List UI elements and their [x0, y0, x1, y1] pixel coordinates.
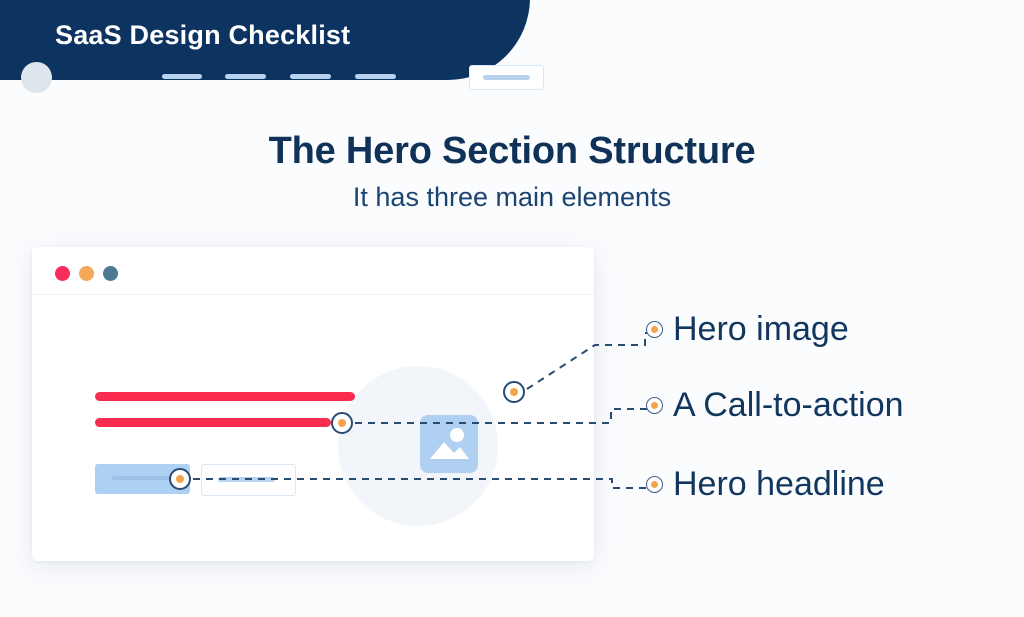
mock-nav-button	[469, 65, 544, 90]
header-banner: SaaS Design Checklist	[0, 0, 530, 80]
mock-nav-link-4	[355, 74, 396, 79]
mock-nav-link-2	[225, 74, 266, 79]
callout-bullet-icon	[646, 397, 663, 414]
callout-anchor-call-to-action[interactable]	[331, 412, 353, 434]
page-subtitle: It has three main elements	[0, 182, 1024, 213]
callout-hero-image[interactable]: Hero image	[646, 312, 849, 346]
mock-headline-bar-2	[95, 418, 331, 427]
callout-anchor-hero-image[interactable]	[503, 381, 525, 403]
browser-titlebar	[32, 247, 594, 295]
callout-bullet-icon	[646, 476, 663, 493]
mock-nav-link-3	[290, 74, 331, 79]
callout-hero-headline[interactable]: Hero headline	[646, 467, 885, 501]
callout-label-hero-headline: Hero headline	[673, 467, 885, 501]
minimize-dot-icon	[79, 266, 94, 281]
mock-primary-cta-label-bar	[112, 476, 170, 480]
mock-secondary-cta-label-bar	[218, 477, 275, 482]
mock-logo-placeholder	[21, 62, 52, 93]
page-title: The Hero Section Structure	[0, 130, 1024, 173]
mock-secondary-cta-button	[201, 464, 296, 496]
callout-anchor-hero-headline[interactable]	[169, 468, 191, 490]
mock-nav-link-1	[162, 74, 202, 79]
callout-label-call-to-action: A Call-to-action	[673, 388, 904, 422]
slide-canvas: SaaS Design Checklist The Hero Section S…	[0, 0, 1024, 617]
maximize-dot-icon	[103, 266, 118, 281]
callout-label-hero-image: Hero image	[673, 312, 849, 346]
mock-headline-bar-1	[95, 392, 355, 401]
image-placeholder-icon	[420, 415, 478, 473]
banner-title: SaaS Design Checklist	[55, 20, 350, 51]
callout-bullet-icon	[646, 321, 663, 338]
mock-nav-button-label-bar	[483, 75, 530, 80]
callout-call-to-action[interactable]: A Call-to-action	[646, 388, 904, 422]
close-dot-icon	[55, 266, 70, 281]
browser-mockup	[32, 247, 594, 561]
